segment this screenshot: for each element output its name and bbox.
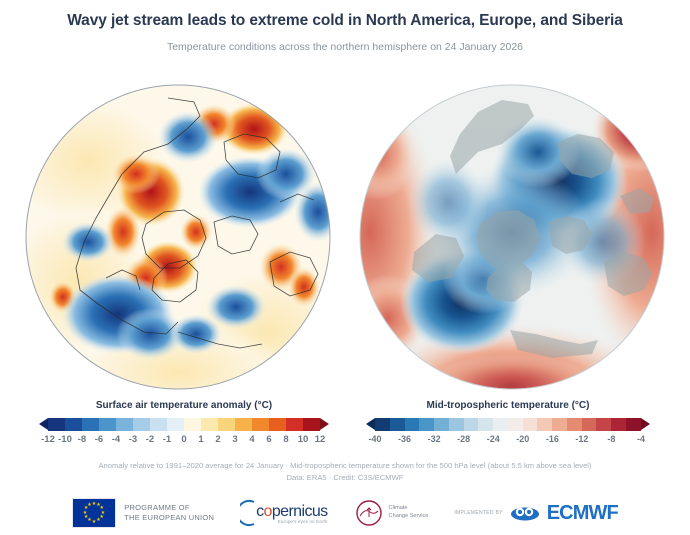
colorbar-swatch [523,418,538,431]
copernicus-logo: copernicus Europe's eyes on Earth [240,498,327,528]
colorbar-swatch [582,418,597,431]
logo-strip: ★★★★★★★★★★★★ Programme of The European U… [0,498,690,528]
eu-logo-line-1: Programme of [124,503,214,513]
c3s-logo-line-1: Climate [389,505,429,513]
colorbar-swatch [390,418,405,431]
colorbar-tick-label: -8 [607,434,615,444]
colorbar-swatch [405,418,420,431]
page-title: Wavy jet stream leads to extreme cold in… [0,12,690,30]
colorbar-swatch [449,418,464,431]
map-field-left [18,82,338,392]
map-500hpa-temperature [352,82,672,392]
c3s-logo-line-2: Change Service [389,513,429,521]
colorbar-swatch [286,418,303,431]
copernicus-arc-icon [240,498,256,528]
infographic-root: Wavy jet stream leads to extreme cold in… [0,0,690,535]
colorbar-tick-label: -2 [146,434,154,445]
colorbar-tick-label: 4 [249,434,254,445]
c3s-logo: Climate Change Service [354,499,429,527]
colorbar-right-swatches [375,418,641,431]
implemented-by-label: Implemented by [454,510,502,516]
map-surface-anomaly [18,82,338,392]
page-subtitle: Temperature conditions across the northe… [0,41,690,53]
colorbar-tick-label: -4 [112,434,120,445]
footnote-line-2: Data: ERA5 · Credit: C3S/ECMWF [0,472,690,484]
colorbar-swatch [269,418,286,431]
colorbar-tick-label: 8 [283,434,288,445]
colorbar-swatch [375,418,390,431]
eu-flag-star: ★ [92,520,96,525]
legend-title-left: Surface air temperature anomaly (°C) [22,400,346,411]
colorbar-tick-label: -3 [129,434,137,445]
colorbar-tick-label: 6 [266,434,271,445]
colorbar-tick-label: -8 [78,434,86,445]
colorbar-right-over-cap [641,418,650,430]
colorbar-swatch [184,418,201,431]
colorbar-tick-label: -28 [457,434,470,444]
colorbar-tick-label: -10 [58,434,72,445]
colorbar-swatch [252,418,269,431]
colorbar-swatch [201,418,218,431]
copernicus-wordmark: copernicus [256,503,327,521]
legend-title-right: Mid-tropospheric temperature (°C) [348,400,668,411]
ecmwf-logo: Implemented by ECMWF [454,502,617,525]
colorbar-tick-label: -24 [487,434,500,444]
colorbar-swatch [133,418,150,431]
eu-flag-star: ★ [96,518,100,523]
colorbar-tick-label: -1 [163,434,171,445]
colorbar-left-over-cap [320,418,329,430]
colorbar-swatch [150,418,167,431]
colorbar-swatch [82,418,99,431]
colorbar-swatch [48,418,65,431]
copernicus-word-pre: c [256,503,263,520]
copernicus-word-accent: o [264,503,272,520]
colorbar-tick-label: 10 [298,434,309,445]
colorbar-swatch [167,418,184,431]
colorbar-left [22,418,346,431]
colorbar-tick-label: -32 [428,434,441,444]
eu-flag-star: ★ [83,511,87,516]
colorbar-left-under-cap [39,418,48,430]
ecmwf-wordmark: ECMWF [547,502,618,525]
colorbar-tick-label: -16 [546,434,559,444]
colorbar-tick-label: 2 [215,434,220,445]
copernicus-word-post: pernicus [272,503,328,520]
colorbar-tick-label: 1 [198,434,203,445]
footnotes: Anomaly relative to 1991–2020 average fo… [0,460,690,484]
eu-flag-icon: ★★★★★★★★★★★★ [72,498,116,528]
colorbar-tick-label: -12 [575,434,588,444]
colorbar-left-ticks: -12-10-8-6-4-3-2-101234681012 [48,434,320,449]
colorbar-swatch [419,418,434,431]
c3s-circle-icon [354,499,384,527]
ecmwf-cloud-icon [510,504,540,522]
eu-logo-text: Programme of The European Union [124,503,214,523]
colorbar-tick-label: 3 [232,434,237,445]
colorbar-swatch [493,418,508,431]
colorbar-swatch [303,418,320,431]
colorbar-swatch [508,418,523,431]
colorbar-tick-label: -4 [637,434,645,444]
colorbar-swatch [626,418,641,431]
eu-flag-star: ★ [87,503,91,508]
colorbar-tick-label: -20 [516,434,529,444]
eu-logo-line-2: The European Union [124,513,214,523]
colorbar-swatch [478,418,493,431]
colorbar-right [348,418,668,431]
eu-logo: ★★★★★★★★★★★★ Programme of The European U… [72,498,214,528]
colorbar-tick-label: -36 [398,434,411,444]
colorbar-tick-label: -6 [95,434,103,445]
colorbar-swatch [99,418,116,431]
colorbar-swatch [611,418,626,431]
colorbar-tick-label: 12 [315,434,326,445]
map-field-right [352,82,672,392]
legend-500hpa: Mid-tropospheric temperature (°C) -40-36… [348,400,668,449]
colorbar-swatch [65,418,82,431]
legend-surface-anomaly: Surface air temperature anomaly (°C) -12… [22,400,346,449]
colorbar-tick-label: -40 [368,434,381,444]
colorbar-right-under-cap [366,418,375,430]
colorbar-tick-label: -12 [41,434,55,445]
colorbar-swatch [464,418,479,431]
c3s-logo-text: Climate Change Service [389,505,429,521]
colorbar-swatch [434,418,449,431]
colorbar-swatch [552,418,567,431]
colorbar-swatch [567,418,582,431]
colorbar-left-swatches [48,418,320,431]
colorbar-tick-label: 0 [181,434,186,445]
colorbar-right-ticks: -40-36-32-28-24-20-16-12-8-4 [375,434,641,449]
footnote-line-1: Anomaly relative to 1991–2020 average fo… [0,460,690,472]
colorbar-swatch [235,418,252,431]
eu-flag-star: ★ [84,515,88,520]
colorbar-swatch [596,418,611,431]
colorbar-swatch [218,418,235,431]
colorbar-swatch [537,418,552,431]
colorbar-swatch [116,418,133,431]
